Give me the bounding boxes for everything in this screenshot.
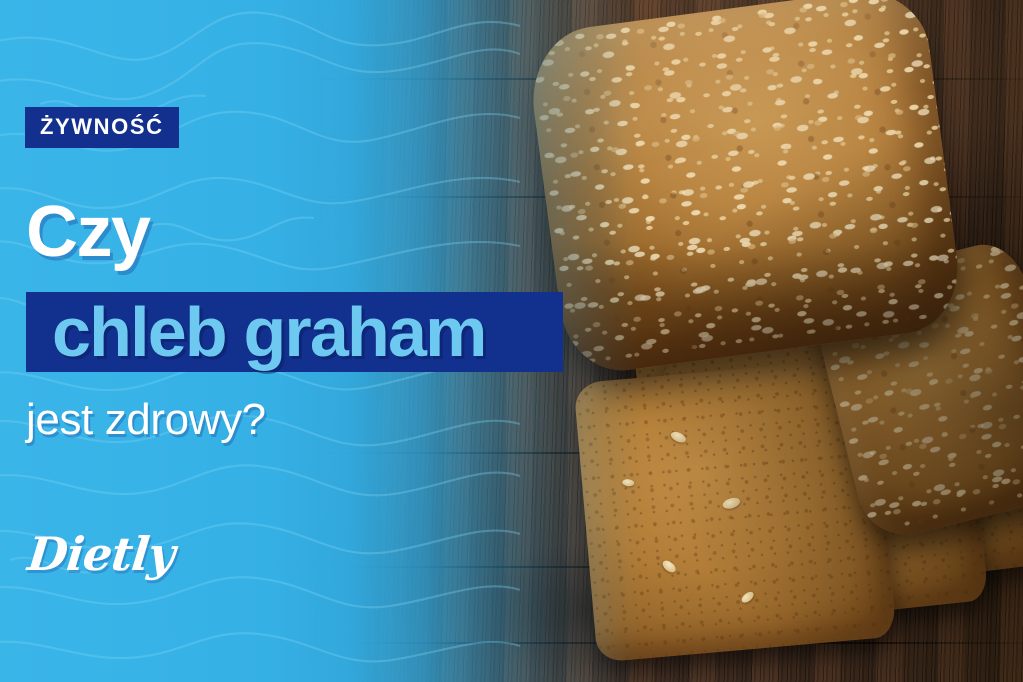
- category-badge[interactable]: ŻYWNOŚĆ: [25, 107, 179, 148]
- headline-block: Czy chleb graham: [26, 196, 626, 268]
- hero-text-content: ŻYWNOŚĆ Czy chleb graham jest zdrowy? Di…: [0, 0, 640, 682]
- brand-logo[interactable]: Dietly: [25, 527, 177, 581]
- headline-highlight-bar: chleb graham: [26, 292, 563, 372]
- article-hero-banner: ŻYWNOŚĆ Czy chleb graham jest zdrowy? Di…: [0, 0, 1023, 682]
- headline-line-1: Czy: [26, 196, 626, 268]
- headline-line-3: jest zdrowy?: [26, 398, 266, 442]
- headline-line-2: chleb graham: [26, 297, 486, 367]
